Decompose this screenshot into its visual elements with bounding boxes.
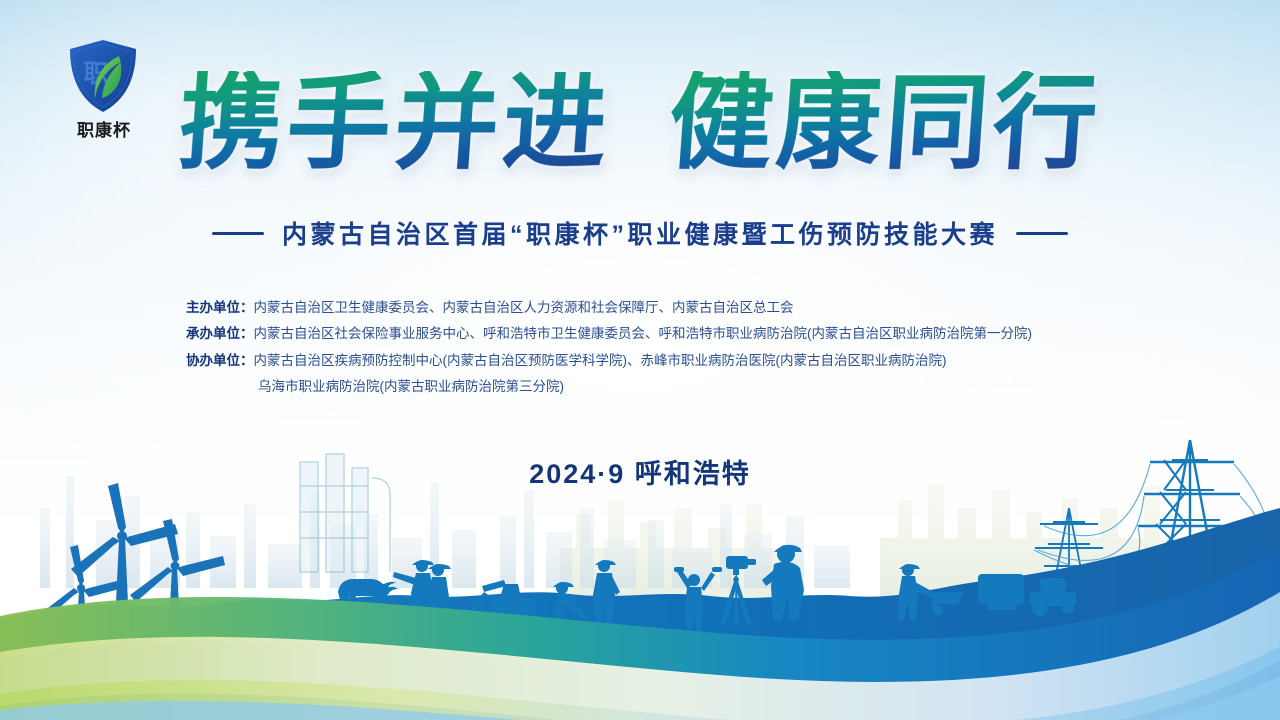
organizers-block: 主办单位： 内蒙古自治区卫生健康委员会、内蒙古自治区人力资源和社会保障厅、内蒙古… xyxy=(186,298,1166,401)
organizer-value-coorganizer-continued: 乌海市职业病防治院(内蒙古职业病防治院第三分院) xyxy=(258,375,1166,395)
organizer-row-coorganizer: 协办单位： 内蒙古自治区疾病预防控制中心(内蒙古自治区预防医学科学院)、赤峰市职… xyxy=(186,351,1166,371)
organizer-label-coorganizer: 协办单位： xyxy=(186,351,254,371)
subtitle-rule-right xyxy=(1016,232,1068,235)
scenery-illustration xyxy=(0,420,1280,720)
subtitle-row: 内蒙古自治区首届“职康杯”职业健康暨工伤预防技能大赛 xyxy=(0,215,1280,251)
organizer-label-host: 主办单位： xyxy=(186,298,254,318)
headline-calligraphy: 携手并进 健康同行 xyxy=(0,58,1280,188)
organizer-label-organizer: 承办单位： xyxy=(186,324,254,344)
organizer-row-organizer: 承办单位： 内蒙古自治区社会保险事业服务中心、呼和浩特市卫生健康委员会、呼和浩特… xyxy=(186,324,1166,344)
brand-logo: 职 职康杯 xyxy=(44,38,164,150)
organizer-value-host: 内蒙古自治区卫生健康委员会、内蒙古自治区人力资源和社会保障厅、内蒙古自治区总工会 xyxy=(254,298,1167,318)
organizer-value-coorganizer: 内蒙古自治区疾病预防控制中心(内蒙古自治区预防医学科学院)、赤峰市职业病防治医院… xyxy=(254,351,1167,371)
subtitle-text: 内蒙古自治区首届“职康杯”职业健康暨工伤预防技能大赛 xyxy=(282,215,998,251)
refinery-icon xyxy=(40,476,476,588)
subtitle-rule-left xyxy=(212,232,264,235)
headline-part-1: 携手并进 xyxy=(175,71,614,175)
shield-leaf-logo-icon: 职 xyxy=(66,38,140,114)
logo-cup-name: 职康杯 xyxy=(44,116,164,141)
organizer-row-host: 主办单位： 内蒙古自治区卫生健康委员会、内蒙古自治区人力资源和社会保障厅、内蒙古… xyxy=(186,298,1166,318)
organizer-value-organizer: 内蒙古自治区社会保险事业服务中心、呼和浩特市卫生健康委员会、呼和浩特市职业病防治… xyxy=(254,324,1167,344)
poster-canvas: 职 职康杯 携手并进 健康同行 内蒙古自治区首届“职康杯”职业健康暨工伤预防技能… xyxy=(0,0,1280,720)
headline-part-2: 健康同行 xyxy=(665,71,1104,175)
